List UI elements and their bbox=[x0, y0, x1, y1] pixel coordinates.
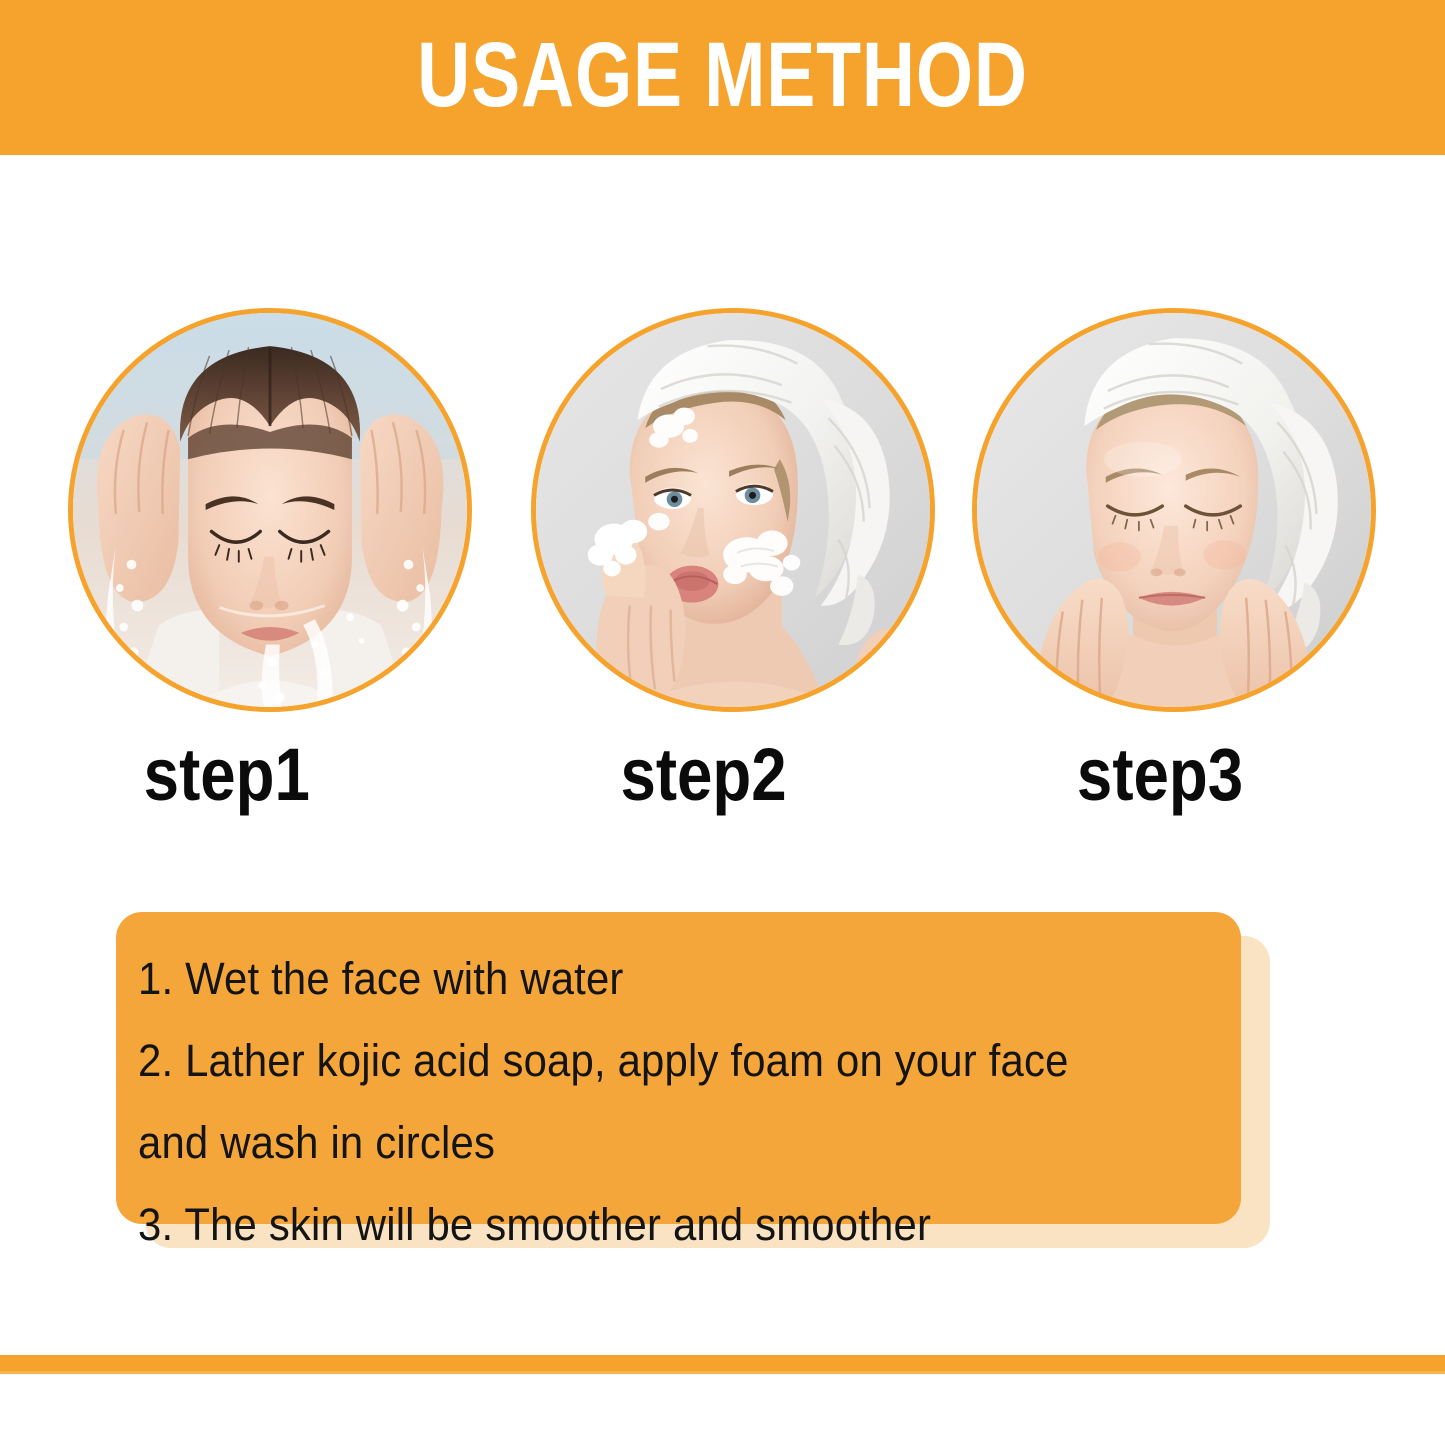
instruction-line-4: 3. The skin will be smoother and smoothe… bbox=[138, 1184, 1141, 1266]
step-1-label: step1 bbox=[68, 738, 415, 812]
step-item-3: step3 bbox=[972, 308, 1376, 812]
instruction-line-2: 2. Lather kojic acid soap, apply foam on… bbox=[138, 1020, 1141, 1102]
step-2-label: step2 bbox=[531, 738, 878, 812]
instructions-panel-body: 1. Wet the face with water 2. Lather koj… bbox=[116, 912, 1241, 1224]
step-3-label: step3 bbox=[972, 738, 1319, 812]
step-item-2: step2 bbox=[531, 308, 935, 812]
instruction-line-1: 1. Wet the face with water bbox=[138, 938, 1141, 1020]
steps-row: step1 bbox=[0, 308, 1445, 808]
instruction-line-3: and wash in circles bbox=[138, 1102, 1141, 1184]
step-3-photo bbox=[972, 308, 1376, 712]
woman-splashing-water-image bbox=[73, 313, 467, 707]
step-item-1: step1 bbox=[68, 308, 472, 812]
step-1-photo bbox=[68, 308, 472, 712]
woman-smooth-skin-image bbox=[977, 313, 1371, 707]
step-2-photo bbox=[531, 308, 935, 712]
footer-bar-accent-line bbox=[0, 1371, 1445, 1374]
page-title: USAGE METHOD bbox=[145, 0, 1301, 155]
woman-applying-foam-image bbox=[536, 313, 930, 707]
